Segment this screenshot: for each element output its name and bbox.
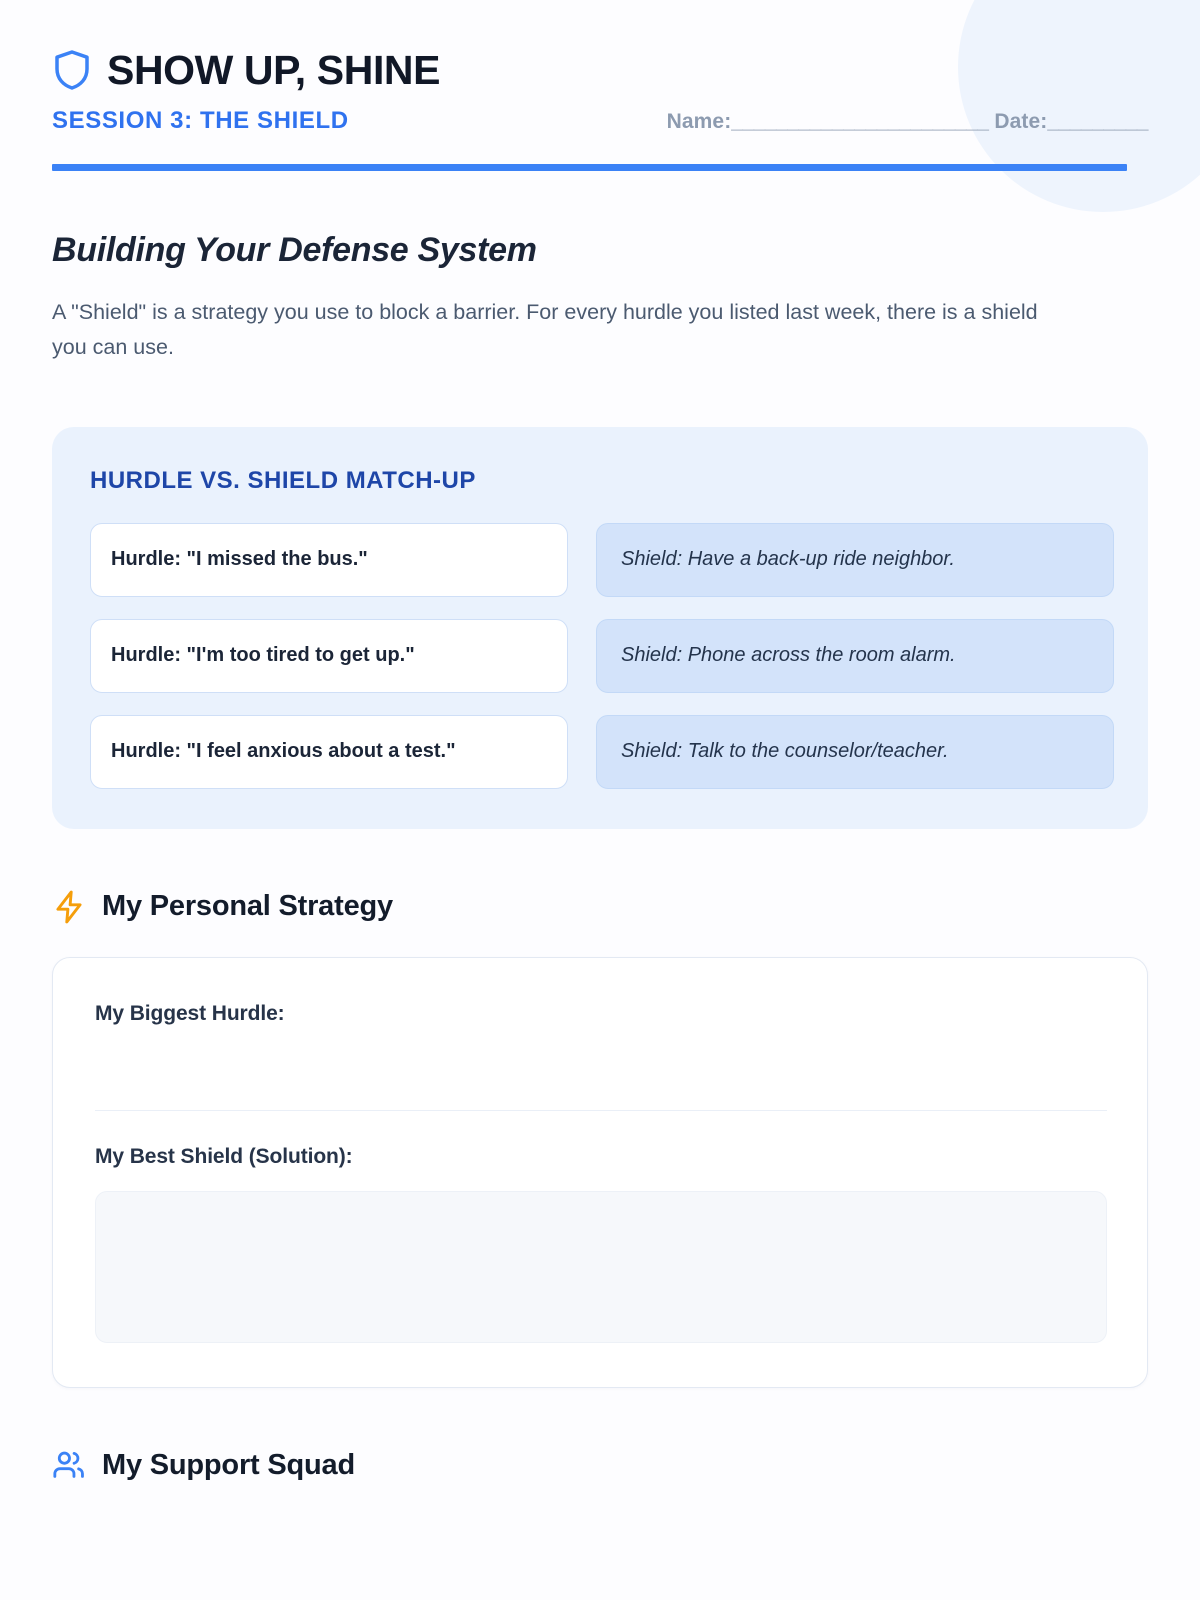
hurdle-card[interactable]: Hurdle: "I feel anxious about a test." [90,715,568,789]
name-date-fields: Name:_______________________ Date:______… [667,110,1148,134]
field-divider [95,1110,1107,1112]
hurdle-card[interactable]: Hurdle: "I missed the bus." [90,523,568,597]
page-title: SHOW UP, SHINE [107,50,440,91]
biggest-hurdle-label: My Biggest Hurdle: [95,1002,1107,1026]
intro-heading: Building Your Defense System [52,231,1148,270]
personal-strategy-heading: My Personal Strategy [102,890,393,923]
personal-strategy-card: My Biggest Hurdle: My Best Shield (Solut… [52,957,1148,1389]
hurdle-shield-matchup-panel: HURDLE VS. SHIELD MATCH-UP Hurdle: "I mi… [52,427,1148,829]
session-label: SESSION 3: THE SHIELD [52,109,440,133]
shield-icon [52,48,92,92]
best-shield-label: My Best Shield (Solution): [95,1145,1107,1169]
name-label: Name: [667,110,732,133]
intro-section: Building Your Defense System A "Shield" … [52,231,1148,365]
personal-strategy-heading-row: My Personal Strategy [52,889,1148,925]
matchup-row: Hurdle: "I missed the bus." Shield: Have… [90,523,1114,597]
date-write-line[interactable]: _________ [1047,110,1148,133]
support-squad-heading: My Support Squad [102,1449,355,1482]
hurdle-card[interactable]: Hurdle: "I'm too tired to get up." [90,619,568,693]
matchup-title: HURDLE VS. SHIELD MATCH-UP [90,467,1114,495]
header-divider-rule [52,164,1127,171]
lightning-bolt-icon [52,889,86,925]
matchup-row: Hurdle: "I'm too tired to get up." Shiel… [90,619,1114,693]
name-write-line[interactable]: _______________________ [731,110,988,133]
shield-card[interactable]: Shield: Talk to the counselor/teacher. [596,715,1114,789]
date-label: Date: [994,110,1047,133]
intro-body: A "Shield" is a strategy you use to bloc… [52,295,1062,365]
support-squad-heading-row: My Support Squad [52,1448,1148,1482]
shield-card[interactable]: Shield: Phone across the room alarm. [596,619,1114,693]
brand-block: SHOW UP, SHINE SESSION 3: THE SHIELD [52,48,440,133]
worksheet-header: SHOW UP, SHINE SESSION 3: THE SHIELD Nam… [52,48,1148,171]
shield-card[interactable]: Shield: Have a back-up ride neighbor. [596,523,1114,597]
worksheet-page: SHOW UP, SHINE SESSION 3: THE SHIELD Nam… [0,0,1200,1482]
users-icon [52,1448,86,1482]
best-shield-answer-box[interactable] [95,1191,1107,1343]
matchup-row: Hurdle: "I feel anxious about a test." S… [90,715,1114,789]
biggest-hurdle-write-space[interactable] [95,1026,1107,1110]
